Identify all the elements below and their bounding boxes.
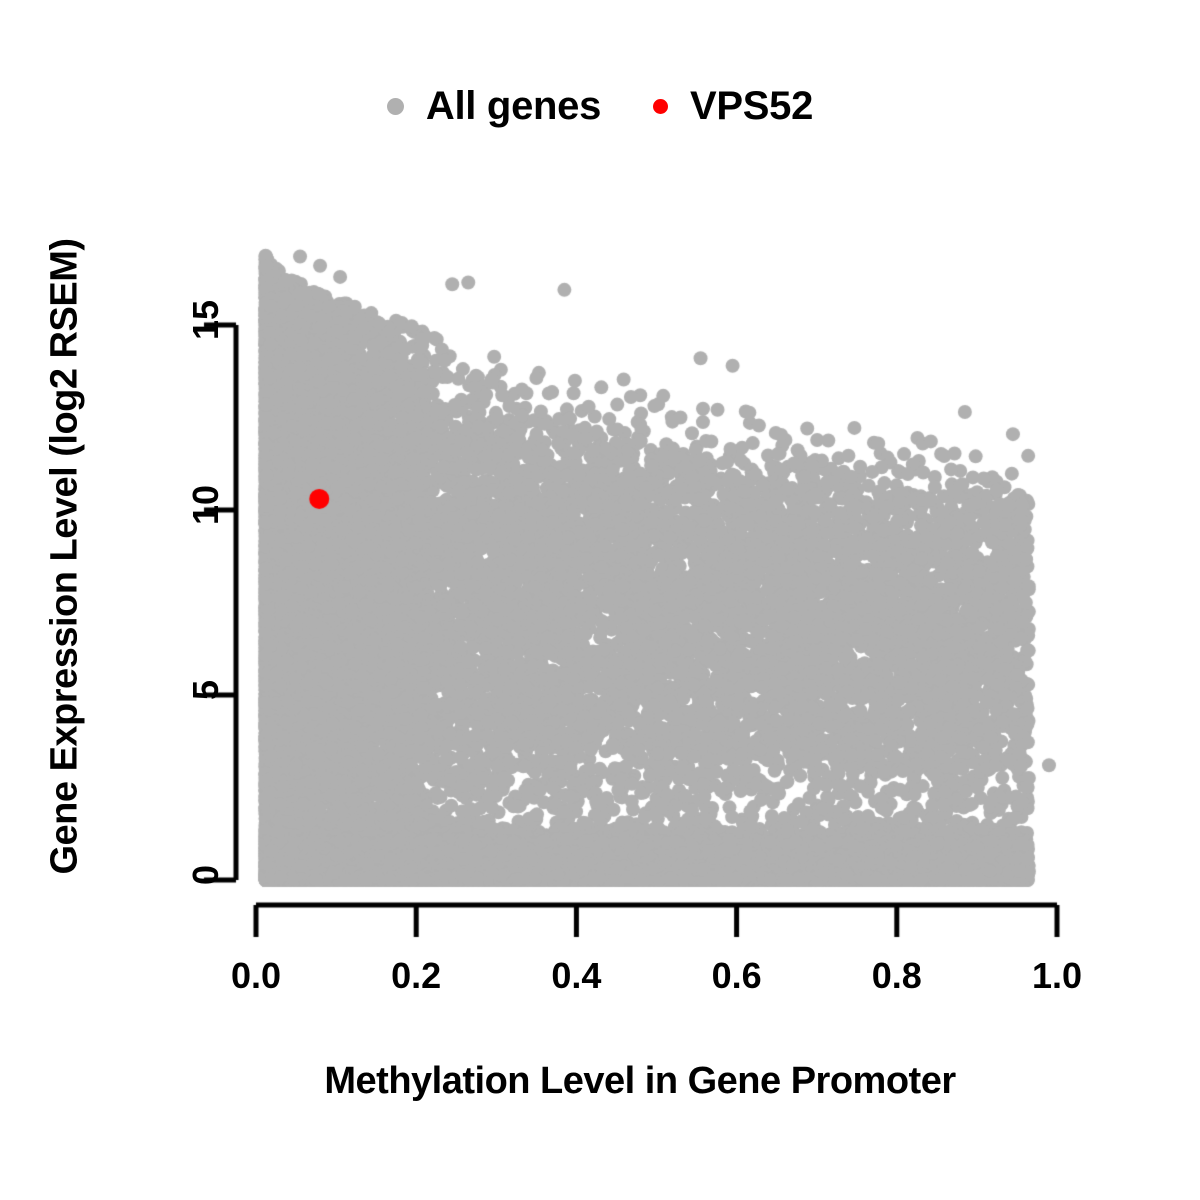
legend-label-vps52: VPS52 xyxy=(690,84,813,129)
x-tick-label: 1.0 xyxy=(997,955,1117,997)
x-tick-label: 0.4 xyxy=(516,955,636,997)
y-tick-label: 0 xyxy=(185,815,227,935)
red-dot-icon xyxy=(653,99,668,114)
y-tick-label: 10 xyxy=(185,445,227,565)
scatter-plot-figure: All genes VPS52 Methylation Level in Gen… xyxy=(0,0,1200,1200)
y-tick-label: 15 xyxy=(185,260,227,380)
x-tick-label: 0.2 xyxy=(356,955,476,997)
legend-entry-all-genes: All genes xyxy=(387,84,601,129)
x-tick-label: 0.8 xyxy=(837,955,957,997)
legend-entry-vps52: VPS52 xyxy=(653,84,813,129)
scatter-plot-canvas xyxy=(0,0,1200,1200)
chart-legend: All genes VPS52 xyxy=(0,78,1200,134)
legend-label-all-genes: All genes xyxy=(426,84,601,129)
grey-dot-icon xyxy=(387,98,404,115)
y-tick-label: 5 xyxy=(185,630,227,750)
x-tick-label: 0.6 xyxy=(677,955,797,997)
x-tick-label: 0.0 xyxy=(196,955,316,997)
x-axis-title: Methylation Level in Gene Promoter xyxy=(160,1060,1120,1103)
y-axis-title: Gene Expression Level (log2 RSEM) xyxy=(44,137,87,977)
